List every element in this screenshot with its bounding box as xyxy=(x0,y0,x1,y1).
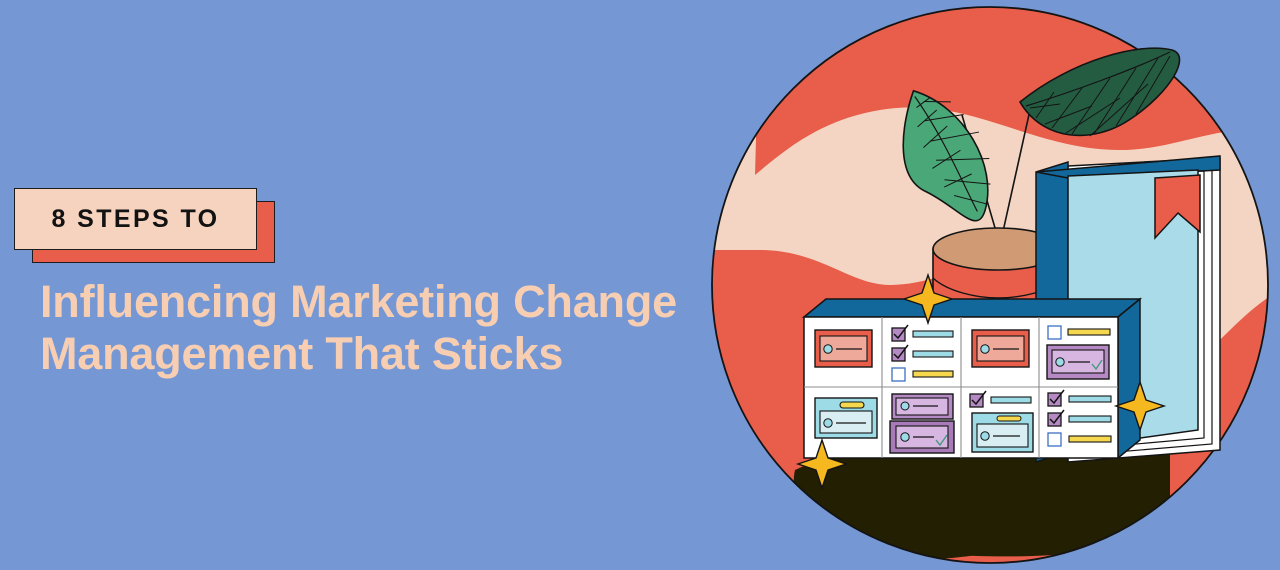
eyebrow-badge: 8 STEPS TO xyxy=(14,188,294,268)
text-column: 8 STEPS TO Influencing Marketing Change … xyxy=(0,0,700,570)
eyebrow-label: 8 STEPS TO xyxy=(51,205,219,234)
board-cell-r1c2[interactable] xyxy=(892,325,953,381)
board-cell-r2c3[interactable] xyxy=(970,391,1033,452)
board-cell-r2c1[interactable] xyxy=(815,398,877,438)
page-title: Influencing Marketing Change Management … xyxy=(40,276,700,380)
board-right-face xyxy=(1118,299,1140,458)
page-title-line-1: Influencing Marketing Change xyxy=(40,276,700,328)
board-cell-r2c4[interactable] xyxy=(1048,390,1111,446)
board-cell-r1c4[interactable] xyxy=(1047,326,1110,379)
checklist-board xyxy=(804,299,1140,458)
board-cell-r1c3[interactable] xyxy=(972,330,1029,367)
hero-illustration xyxy=(700,0,1280,570)
board-top-face xyxy=(804,299,1140,317)
eyebrow-badge-front: 8 STEPS TO xyxy=(14,188,257,250)
page-title-line-2: Management That Sticks xyxy=(40,328,700,380)
board-cell-r1c1[interactable] xyxy=(815,330,872,367)
board-cell-r2c2[interactable] xyxy=(890,394,954,453)
banner-canvas: 8 STEPS TO Influencing Marketing Change … xyxy=(0,0,1280,570)
